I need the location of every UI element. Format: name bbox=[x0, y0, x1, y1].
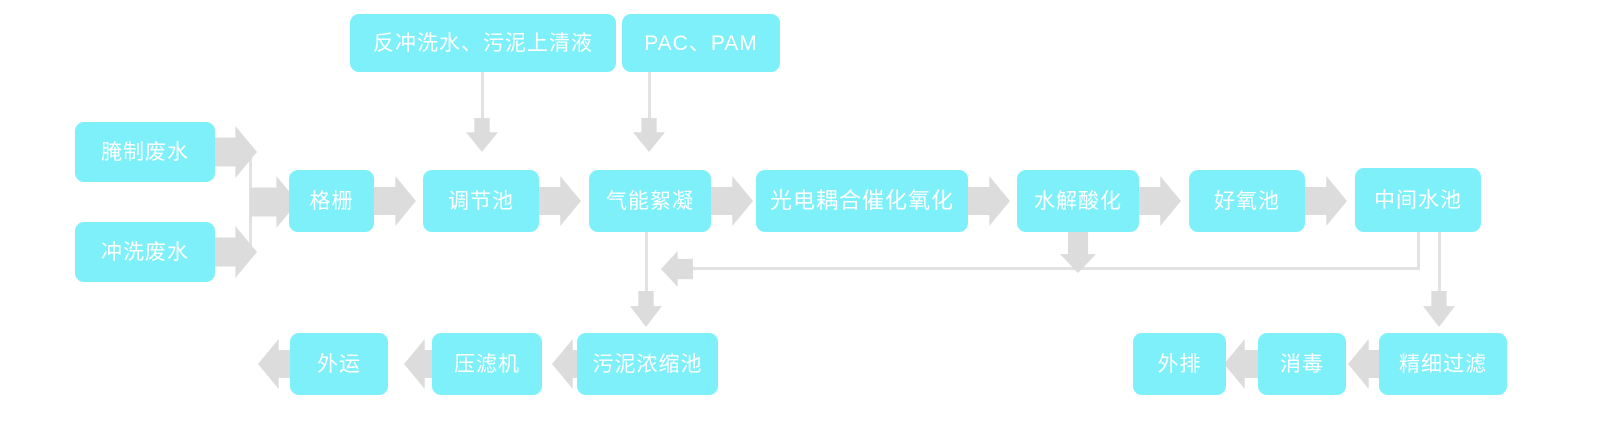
connector-backwash-to-regulating-tank bbox=[481, 72, 484, 124]
arrow-regulating-tank-to-flocculation bbox=[535, 176, 581, 226]
node-label: 压滤机 bbox=[454, 354, 520, 375]
connector-intermediate-to-fine-filtration bbox=[1438, 232, 1441, 298]
arrowhead-pac-pam-to-flocculation bbox=[633, 118, 665, 152]
connector-flocculation-to-sludge-thickening bbox=[645, 232, 648, 298]
node-fine-filtration[interactable]: 精细过滤 bbox=[1379, 333, 1507, 395]
node-offsite-transport[interactable]: 外运 bbox=[290, 333, 388, 395]
connector-pac-pam-to-flocculation bbox=[648, 72, 651, 124]
arrow-photoelectric-oxidation-to-hydrolysis bbox=[964, 176, 1010, 226]
node-label: 冲洗废水 bbox=[101, 242, 189, 263]
node-grille[interactable]: 格栅 bbox=[289, 170, 374, 232]
node-aerobic-tank[interactable]: 好氧池 bbox=[1189, 170, 1305, 232]
arrowhead-intermediate-to-fine-filtration bbox=[1423, 291, 1455, 327]
arrow-aerobic-tank-to-intermediate-reservoir bbox=[1301, 176, 1347, 226]
node-label: 光电耦合催化氧化 bbox=[770, 190, 954, 212]
node-label: 格栅 bbox=[310, 191, 354, 212]
node-label: PAC、PAM bbox=[644, 33, 758, 54]
return-line-horizontal bbox=[684, 267, 1420, 270]
node-label: 水解酸化 bbox=[1034, 191, 1122, 212]
node-label: 外排 bbox=[1158, 354, 1202, 375]
node-photoelectric-catalytic-oxidation[interactable]: 光电耦合催化氧化 bbox=[756, 170, 968, 232]
arrowhead-backwash-to-regulating-tank bbox=[466, 118, 498, 152]
node-label: 外运 bbox=[317, 354, 361, 375]
arrow-flocculation-to-photoelectric-oxidation bbox=[707, 176, 753, 226]
arrowhead-flocculation-to-sludge-thickening bbox=[630, 291, 662, 327]
node-label: 气能絮凝 bbox=[606, 191, 694, 212]
node-hydrolysis-acidification[interactable]: 水解酸化 bbox=[1017, 170, 1139, 232]
node-air-flocculation[interactable]: 气能絮凝 bbox=[589, 170, 711, 232]
node-label: 中间水池 bbox=[1374, 190, 1462, 211]
node-label: 腌制废水 bbox=[101, 142, 189, 163]
node-regulating-tank[interactable]: 调节池 bbox=[423, 170, 539, 232]
node-intermediate-reservoir[interactable]: 中间水池 bbox=[1355, 168, 1481, 232]
arrow-grille-to-regulating-tank bbox=[370, 176, 416, 226]
node-disinfection[interactable]: 消毒 bbox=[1258, 333, 1346, 395]
node-input-rinsing-wastewater[interactable]: 冲洗废水 bbox=[75, 222, 215, 282]
node-input-pickling-wastewater[interactable]: 腌制废水 bbox=[75, 122, 215, 182]
node-label: 调节池 bbox=[448, 191, 514, 212]
node-label: 精细过滤 bbox=[1399, 354, 1487, 375]
node-dosing-pac-pam[interactable]: PAC、PAM bbox=[622, 14, 780, 72]
node-sludge-thickening-tank[interactable]: 污泥浓缩池 bbox=[577, 333, 718, 395]
node-discharge[interactable]: 外排 bbox=[1133, 333, 1226, 395]
arrowhead-return-to-flocculation bbox=[661, 251, 693, 287]
node-label: 消毒 bbox=[1280, 354, 1324, 375]
node-label: 好氧池 bbox=[1214, 191, 1280, 212]
node-label: 反冲洗水、污泥上清液 bbox=[373, 33, 593, 54]
node-label: 污泥浓缩池 bbox=[593, 354, 703, 375]
node-dosing-backwash-supernatant[interactable]: 反冲洗水、污泥上清液 bbox=[350, 14, 616, 72]
return-line-vertical-from-intermediate bbox=[1417, 232, 1420, 270]
arrow-hydrolysis-to-aerobic-tank bbox=[1135, 176, 1181, 226]
flowchart-canvas: 反冲洗水、污泥上清液 PAC、PAM 腌制废水 冲洗废水 格栅 调节池 气能絮凝… bbox=[0, 0, 1600, 444]
node-filter-press[interactable]: 压滤机 bbox=[432, 333, 542, 395]
